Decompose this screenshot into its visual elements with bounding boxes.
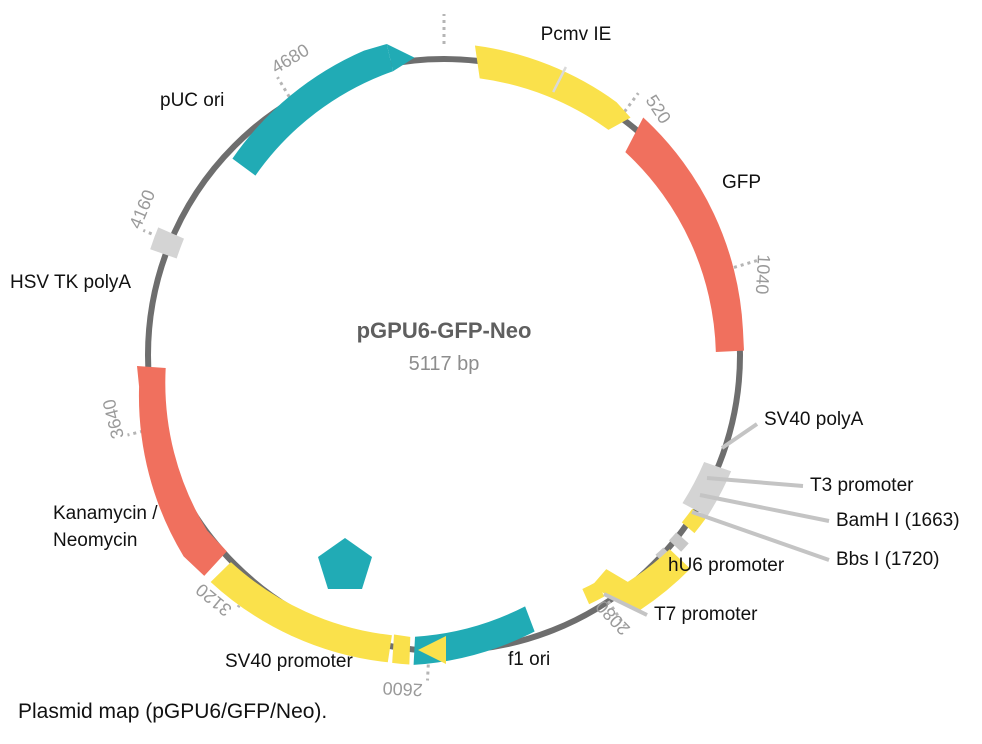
feature-t3-promoter-label: T3 promoter [810,475,914,496]
feature-bbsi-site-leader [692,512,829,560]
feature-sv40-polya[interactable]: SV40 polyA [682,409,863,516]
feature-gfp-label: GFP [722,172,761,193]
page-title: pGPU6-GFP-Neo [357,318,532,343]
feature-sv40-polya-shape[interactable] [682,462,731,516]
feature-bbsi-site-label: Bbs I (1720) [836,549,940,570]
plasmid-map-figure: 520 1040 2080 2600 3120 3640 4160 4680 [0,0,982,744]
feature-pcmv-ie-shape[interactable] [475,46,631,130]
feature-hsv-tk-polya-label: HSV TK polyA [10,272,131,293]
feature-bamhi-site-shape[interactable] [669,532,689,551]
tick-label-4160: 4160 [125,187,159,232]
feature-kanamycin-line1: Kanamycin / [53,503,158,524]
tick-label-1040: 1040 [752,254,774,295]
feature-sv40-promoter-shape[interactable] [392,635,410,665]
feature-kanamycin-line2: Neomycin [53,530,137,551]
feature-t7-promoter-label: T7 promoter [654,604,758,625]
feature-puc-ori-shape[interactable] [232,44,393,176]
tick-label-4680: 4680 [268,40,313,78]
feature-bamhi-site-label: BamH I (1663) [836,510,960,531]
feature-pcmv-ie[interactable]: Pcmv IE [475,24,631,130]
figure-caption: Plasmid map (pGPU6/GFP/Neo). [18,700,327,724]
feature-hu6-promoter-label: hU6 promoter [668,555,785,576]
feature-sv40-polya-label: SV40 polyA [764,409,864,430]
feature-bamhi-site-leader [700,495,829,521]
tick-label-3640: 3640 [99,397,128,441]
tick-label-2600: 2600 [382,678,423,700]
plasmid-size: 5117 bp [409,353,480,375]
feature-gfp-shape[interactable] [625,118,744,353]
feature-pcmv-ie-label: Pcmv IE [541,24,612,45]
feature-hsv-tk-polya-shape[interactable] [150,227,184,258]
unlabeled-pentagon-marker[interactable] [318,538,372,589]
feature-f1-ori-label: f1 ori [508,649,550,670]
plasmid-map-svg: 520 1040 2080 2600 3120 3640 4160 4680 [0,0,982,744]
feature-kanamycin-neomycin[interactable]: Kanamycin / Neomycin [53,366,227,576]
feature-puc-ori-label: pUC ori [160,90,224,111]
feature-kanamycin-neomycin-shape[interactable] [137,366,227,576]
feature-gfp[interactable]: GFP [625,118,761,353]
feature-sv40-promoter-label: SV40 promoter [225,651,353,672]
